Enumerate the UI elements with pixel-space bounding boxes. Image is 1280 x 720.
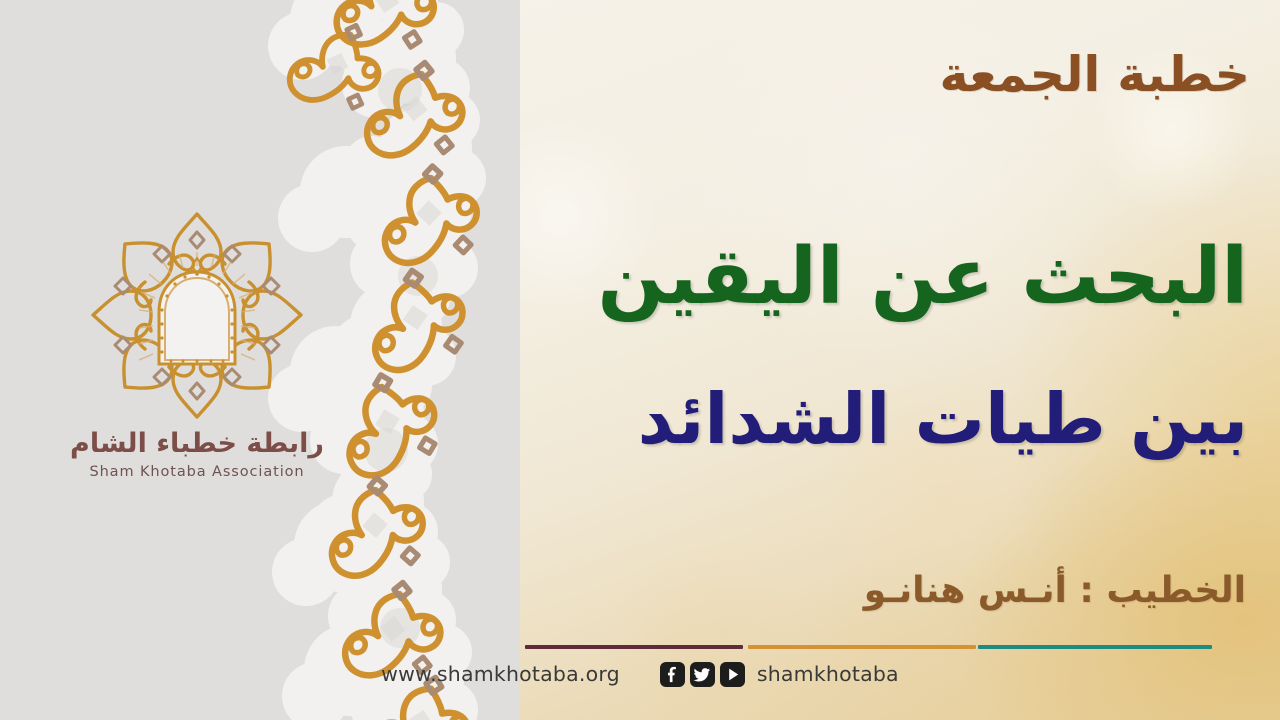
- poster-canvas: رابطة خطباء الشام Sham Khotaba Associati…: [0, 0, 1280, 720]
- footer-bar: www.shamkhotaba.org shamkhotaba: [0, 657, 1280, 691]
- sermon-kicker: خطبة الجمعة: [939, 46, 1250, 103]
- logo-block: رابطة خطباء الشام Sham Khotaba Associati…: [62, 208, 332, 508]
- youtube-icon[interactable]: [720, 662, 745, 687]
- logo-name-english: Sham Khotaba Association: [62, 464, 332, 480]
- twitter-icon[interactable]: [690, 662, 715, 687]
- speaker-name: الخطيب : أنـس هنانـو: [864, 570, 1246, 611]
- divider-segment-orange: [748, 645, 976, 649]
- facebook-icon[interactable]: [660, 662, 685, 687]
- sermon-title-line-1: البحث عن اليقين: [598, 238, 1248, 316]
- logo-name-arabic: رابطة خطباء الشام: [62, 429, 332, 459]
- sermon-title-line-2: بين طيات الشدائد: [638, 384, 1248, 454]
- mihrab-arabesque-star-icon: [87, 208, 307, 423]
- divider-segment-maroon: [525, 645, 743, 649]
- social-handle[interactable]: shamkhotaba: [757, 662, 899, 686]
- footer-divider-rules: [0, 645, 1280, 650]
- divider-segment-teal: [978, 645, 1212, 649]
- website-url[interactable]: www.shamkhotaba.org: [381, 662, 620, 686]
- social-icon-group: [660, 662, 745, 687]
